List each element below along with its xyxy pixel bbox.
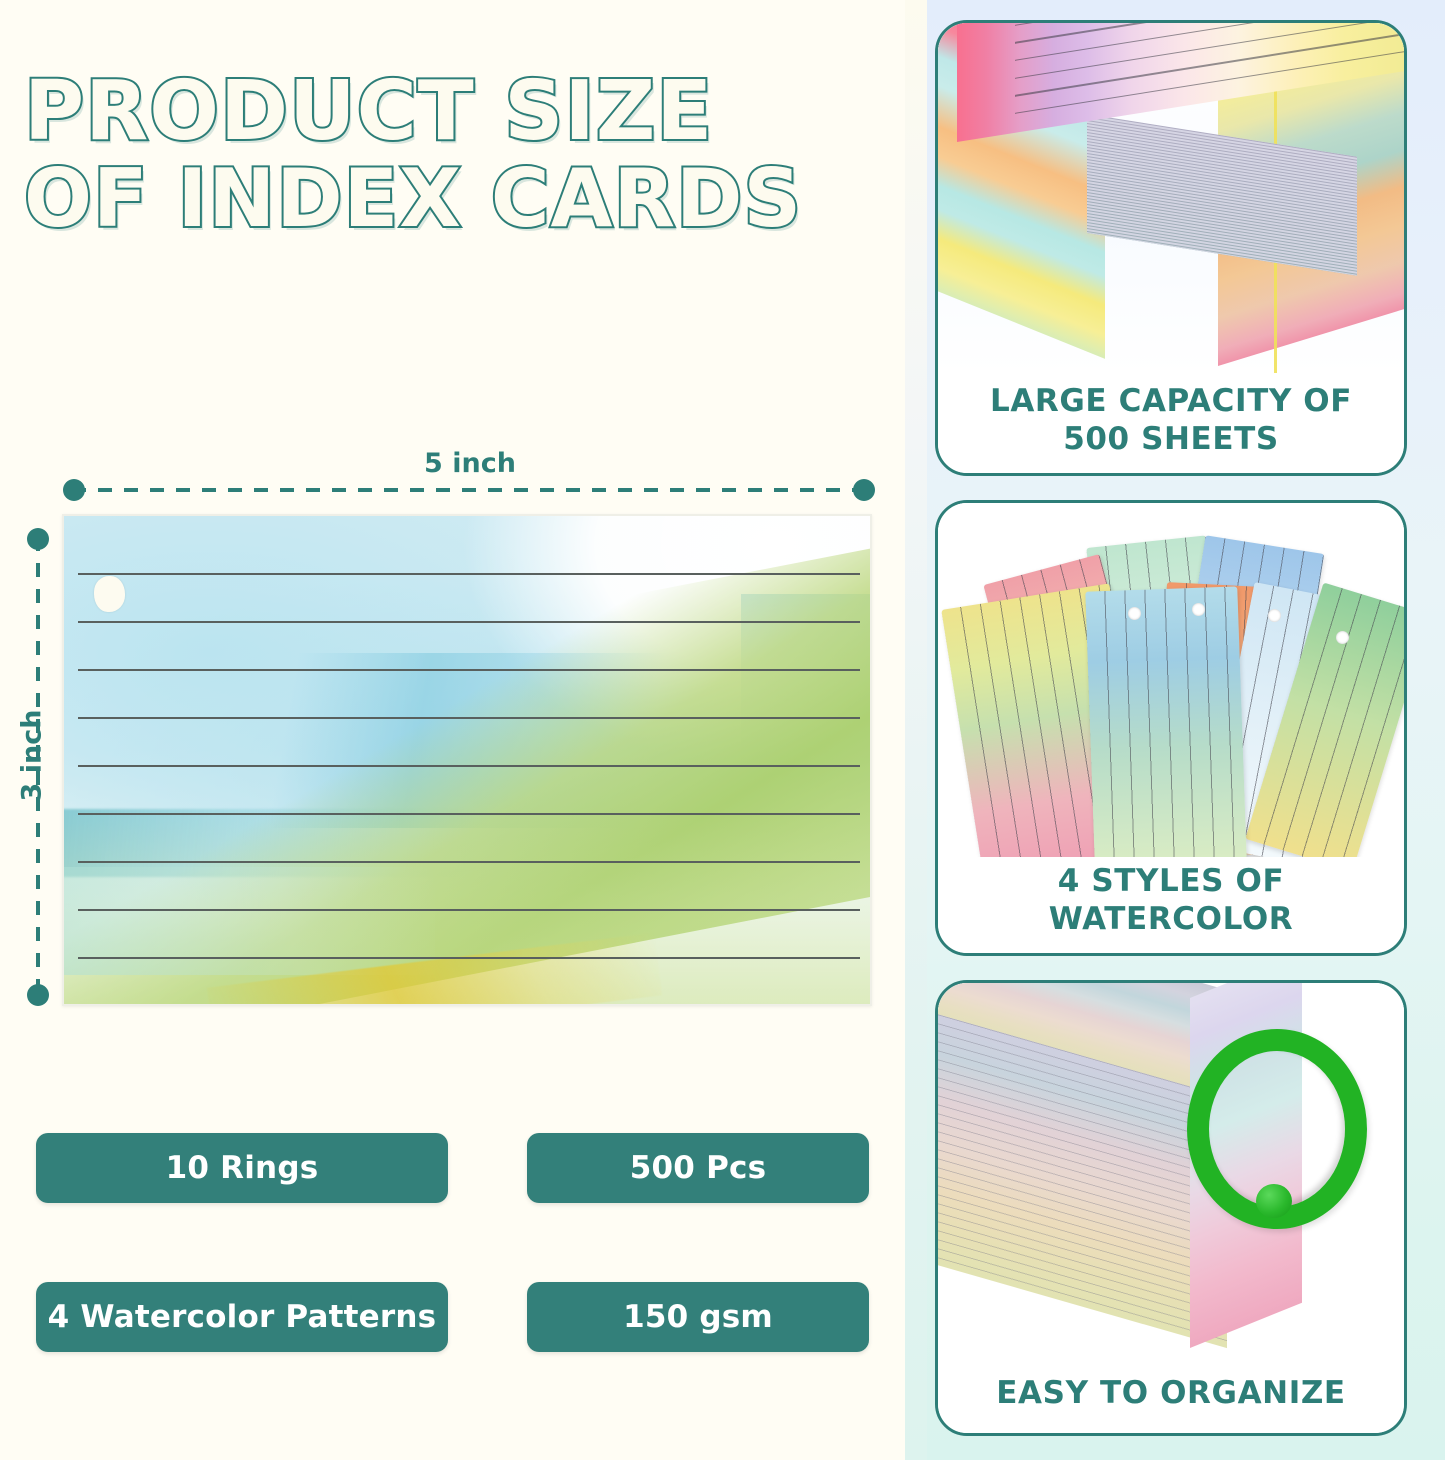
feature-caption-styles: 4 STYLES OF WATERCOLOR xyxy=(938,857,1404,953)
spec-badge-weight[interactable]: 150 gsm xyxy=(527,1282,869,1352)
card-rule-line xyxy=(78,957,860,959)
feature-card-capacity[interactable]: LARGE CAPACITY OF 500 SHEETS xyxy=(935,20,1407,476)
title-line-2: OF INDEX CARDS xyxy=(24,160,874,238)
height-dimension-line xyxy=(36,537,40,999)
card-rule-line xyxy=(78,909,860,911)
fan-card-hole xyxy=(1268,609,1281,622)
punch-hole-icon xyxy=(94,576,125,612)
feature-caption-organize: EASY TO ORGANIZE xyxy=(938,1363,1404,1433)
fan-card-hole xyxy=(1336,631,1349,644)
page-title: PRODUCT SIZE OF INDEX CARDS xyxy=(24,72,874,239)
infographic-page: PRODUCT SIZE OF INDEX CARDS 5 inch 3 inc… xyxy=(0,0,1445,1460)
card-rule-line xyxy=(78,861,860,863)
spec-badge-patterns[interactable]: 4 Watercolor Patterns xyxy=(36,1282,448,1352)
width-dimension-endpoint-right xyxy=(853,479,875,501)
spec-badge-pieces[interactable]: 500 Pcs xyxy=(527,1133,869,1203)
card-rule-line xyxy=(78,621,860,623)
width-dimension-label: 5 inch xyxy=(70,448,870,479)
height-dimension-endpoint-bottom xyxy=(27,984,49,1006)
card-rule-line xyxy=(78,573,860,575)
spec-badge-rings[interactable]: 10 Rings xyxy=(36,1133,448,1203)
feature-card-styles[interactable]: 4 STYLES OF WATERCOLOR xyxy=(935,500,1407,956)
height-dimension-label: 3 inch xyxy=(17,701,48,811)
feature-card-organize[interactable]: EASY TO ORGANIZE xyxy=(935,980,1407,1436)
fan-card-hole xyxy=(1128,607,1141,620)
card-rule-line xyxy=(78,765,860,767)
width-dimension-line xyxy=(72,488,866,492)
rainbow-card-stack-photo xyxy=(938,23,1404,373)
right-panel: LARGE CAPACITY OF 500 SHEETS 4 STYLES O xyxy=(905,0,1445,1460)
feature-caption-capacity: LARGE CAPACITY OF 500 SHEETS xyxy=(938,373,1404,473)
left-panel: PRODUCT SIZE OF INDEX CARDS 5 inch 3 inc… xyxy=(0,0,905,1460)
fan-card-hole xyxy=(1192,603,1205,616)
width-dimension-endpoint-left xyxy=(63,479,85,501)
card-rule-line xyxy=(78,813,860,815)
fanned-cards-photo xyxy=(938,503,1404,857)
card-rule-line xyxy=(78,669,860,671)
card-rule-line xyxy=(78,717,860,719)
height-dimension-endpoint-top xyxy=(27,528,49,550)
fan-card-blue-front xyxy=(1085,586,1246,857)
index-card-sample xyxy=(62,514,872,1006)
title-line-1: PRODUCT SIZE xyxy=(24,72,874,152)
green-ring-photo xyxy=(938,983,1404,1363)
